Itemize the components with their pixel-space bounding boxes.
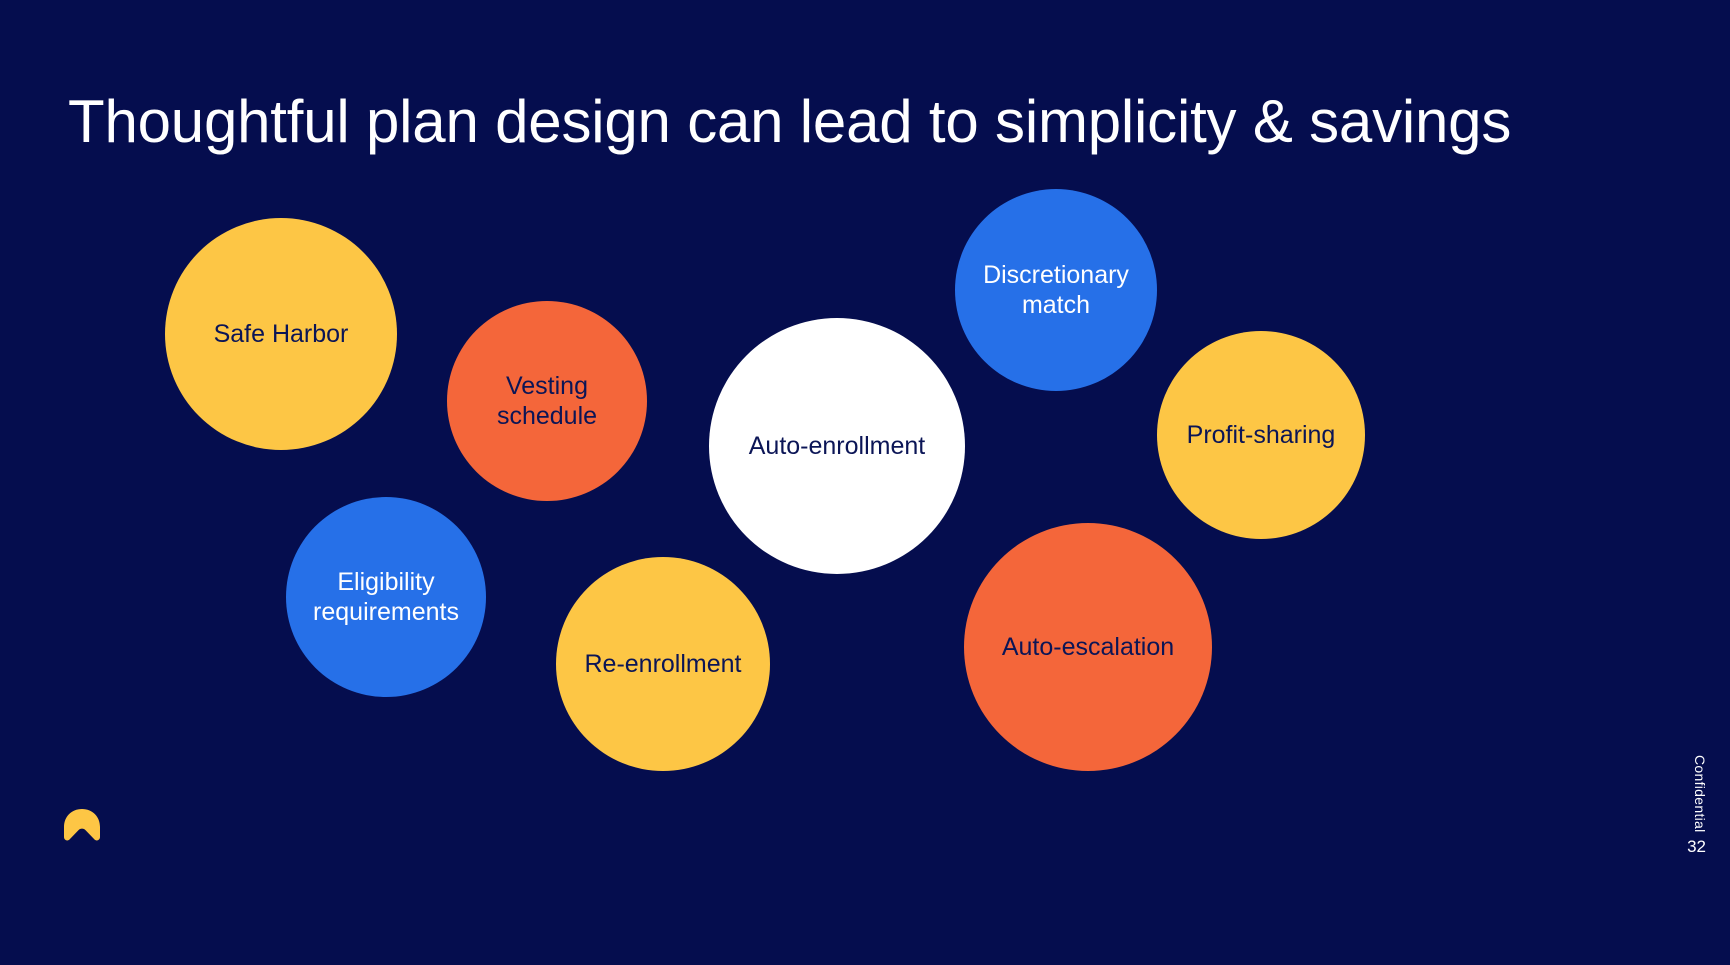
bubble-eligibility-requirements[interactable]: Eligibilityrequirements (286, 497, 486, 697)
bubble-label-auto-enrollment: Auto-enrollment (739, 431, 935, 462)
bubble-re-enrollment[interactable]: Re-enrollment (556, 557, 770, 771)
slide-canvas: Thoughtful plan design can lead to simpl… (0, 0, 1730, 965)
bubble-auto-escalation[interactable]: Auto-escalation (964, 523, 1212, 771)
bubble-profit-sharing[interactable]: Profit-sharing (1157, 331, 1365, 539)
guideline-dome-logo-icon (62, 807, 102, 847)
bubble-label-vesting-schedule: Vestingschedule (487, 371, 607, 432)
bubble-discretionary-match[interactable]: Discretionarymatch (955, 189, 1157, 391)
bubble-label-eligibility-requirements: Eligibilityrequirements (303, 567, 469, 628)
confidential-watermark: Confidential (1692, 755, 1708, 833)
bubble-label-re-enrollment: Re-enrollment (574, 649, 751, 680)
page-number: 32 (1687, 837, 1706, 857)
bubble-label-discretionary-match: Discretionarymatch (973, 260, 1139, 321)
bubble-label-auto-escalation: Auto-escalation (992, 632, 1184, 663)
bubble-vesting-schedule[interactable]: Vestingschedule (447, 301, 647, 501)
bubble-label-safe-harbor: Safe Harbor (204, 319, 359, 350)
bubble-auto-enrollment[interactable]: Auto-enrollment (709, 318, 965, 574)
bubble-diagram: Safe HarborVestingscheduleAuto-enrollmen… (0, 0, 1730, 965)
bubble-safe-harbor[interactable]: Safe Harbor (165, 218, 397, 450)
bubble-label-profit-sharing: Profit-sharing (1177, 420, 1346, 451)
